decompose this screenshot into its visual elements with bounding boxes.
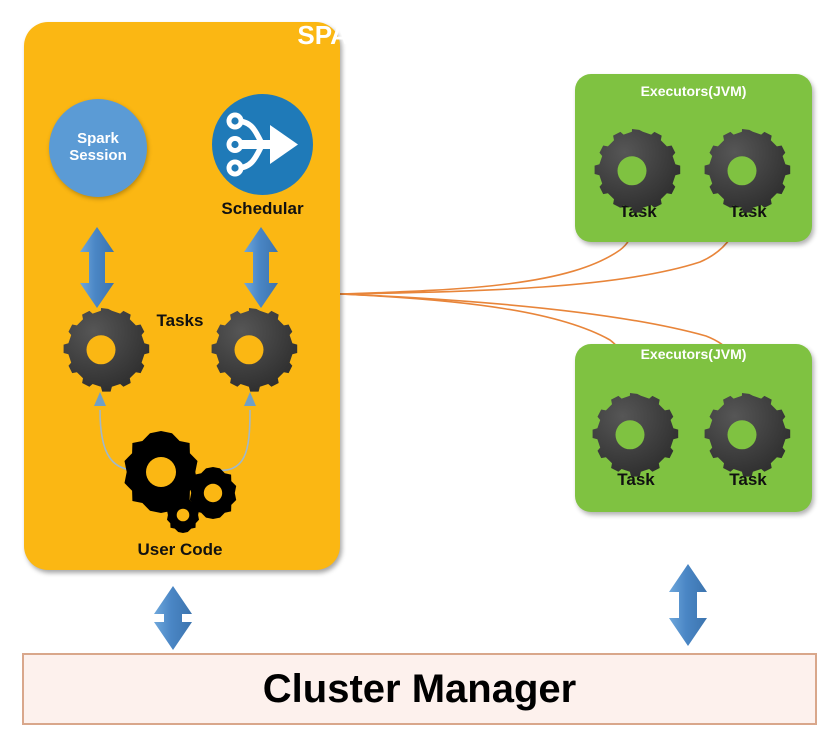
executor-2-task-2-label: Task — [708, 470, 788, 490]
driver-user-code-label: User Code — [95, 540, 265, 560]
driver-title: SPARK Driver(JVM) — [0, 20, 837, 51]
scheduler-fanin-arrow-icon[interactable] — [212, 94, 313, 195]
executor-2-task-1-label: Task — [596, 470, 676, 490]
executor-2-title: Executors(JVM) — [575, 346, 812, 362]
executor-1-task-1-label: Task — [598, 202, 678, 222]
spark-architecture-diagram: SPARK Driver(JVM) Spark Session Schedula… — [0, 0, 837, 744]
driver-to-cluster-arrow — [154, 586, 192, 650]
cluster-manager-box[interactable]: Cluster Manager — [22, 653, 817, 725]
executor-1-task-2-label: Task — [708, 202, 788, 222]
cluster-manager-label: Cluster Manager — [24, 655, 815, 723]
executor-1-title: Executors(JVM) — [575, 83, 812, 99]
driver-tasks-label: Tasks — [120, 311, 240, 331]
executors-to-cluster-arrow — [669, 564, 707, 646]
spark-session-circle[interactable]: Spark Session — [49, 99, 147, 197]
spark-session-label: Spark Session — [49, 99, 147, 197]
schedular-label: Schedular — [185, 199, 340, 219]
